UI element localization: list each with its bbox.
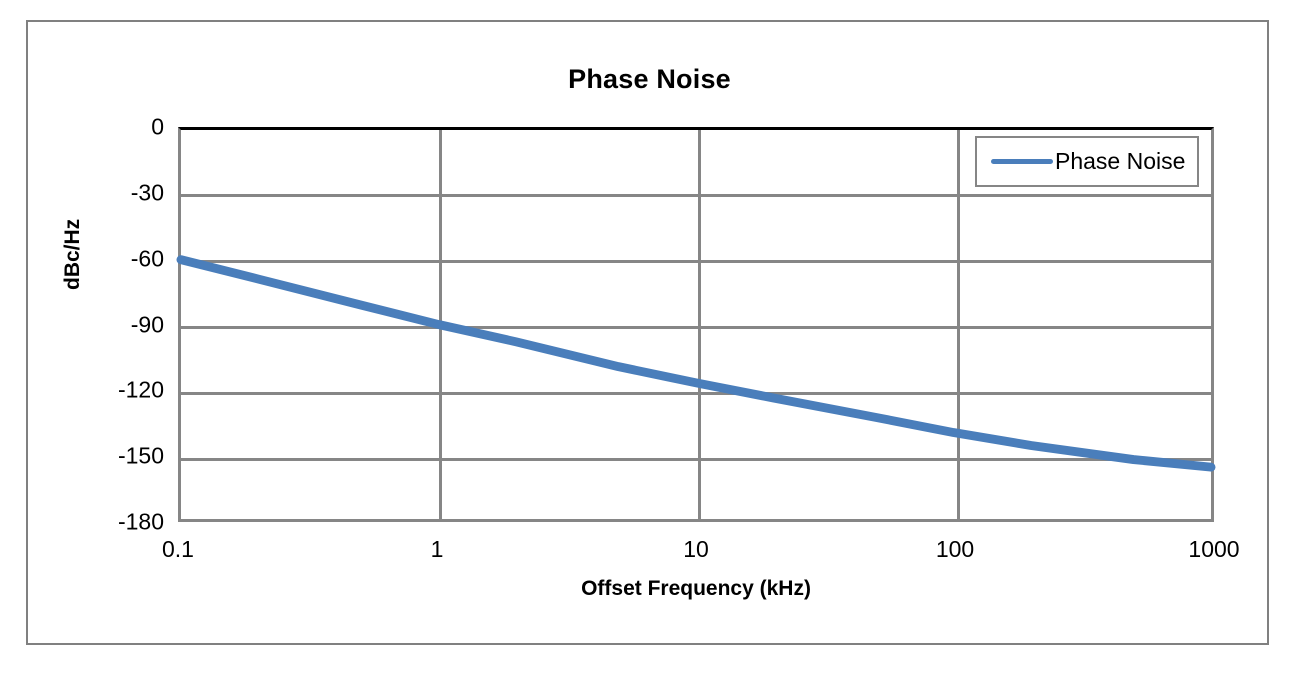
chart-frame: Phase Noise dBc/Hz Offset Frequency (kHz… [26,20,1269,645]
x-axis-label: Offset Frequency (kHz) [178,577,1214,601]
x-axis-tick-label: 1 [367,536,507,563]
y-axis-tick-label: -180 [44,509,164,536]
x-axis-tick-label: 0.1 [108,536,248,563]
chart-legend[interactable]: Phase Noise [975,136,1199,187]
y-axis-tick-label: -30 [44,179,164,206]
y-axis-tick-label: -120 [44,377,164,404]
y-axis-tick-label: 0 [44,114,164,141]
y-axis-tick-label: -90 [44,311,164,338]
y-axis-tick-label: -60 [44,245,164,272]
legend-color-swatch-phase-noise [991,159,1053,164]
legend-label-phase-noise: Phase Noise [1055,148,1185,175]
y-axis-tick-label: -150 [44,443,164,470]
chart-title: Phase Noise [28,64,1271,95]
series-line-phase-noise [181,260,1211,467]
x-axis-tick-label: 10 [626,536,766,563]
series-layer [181,130,1211,519]
x-axis-tick-label: 1000 [1144,536,1284,563]
x-axis-tick-label: 100 [885,536,1025,563]
